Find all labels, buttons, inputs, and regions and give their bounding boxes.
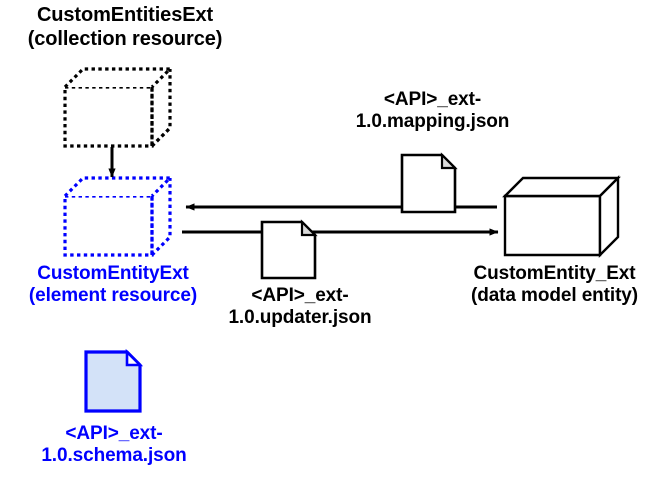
element-resource-label: CustomEntityExt (element resource) — [8, 263, 218, 308]
mapping-file-label: <API>_ext- 1.0.mapping.json — [330, 89, 535, 134]
collection-resource-label: CustomEntitiesExt (collection resource) — [0, 4, 250, 51]
mapping-document-icon — [402, 155, 455, 212]
element-cube-icon — [65, 178, 170, 255]
updater-document-icon — [262, 222, 315, 278]
diagram-canvas: CustomEntitiesExt (collection resource) … — [0, 0, 657, 483]
diagram-shapes-layer — [0, 0, 657, 483]
schema-document-icon — [86, 352, 140, 411]
data-model-entity-label: CustomEntity_Ext (data model entity) — [452, 263, 657, 308]
schema-file-label: <API>_ext- 1.0.schema.json — [10, 423, 218, 468]
data-model-cube-icon — [505, 178, 618, 255]
updater-file-label: <API>_ext- 1.0.updater.json — [205, 285, 395, 330]
collection-cube-icon — [65, 69, 170, 146]
